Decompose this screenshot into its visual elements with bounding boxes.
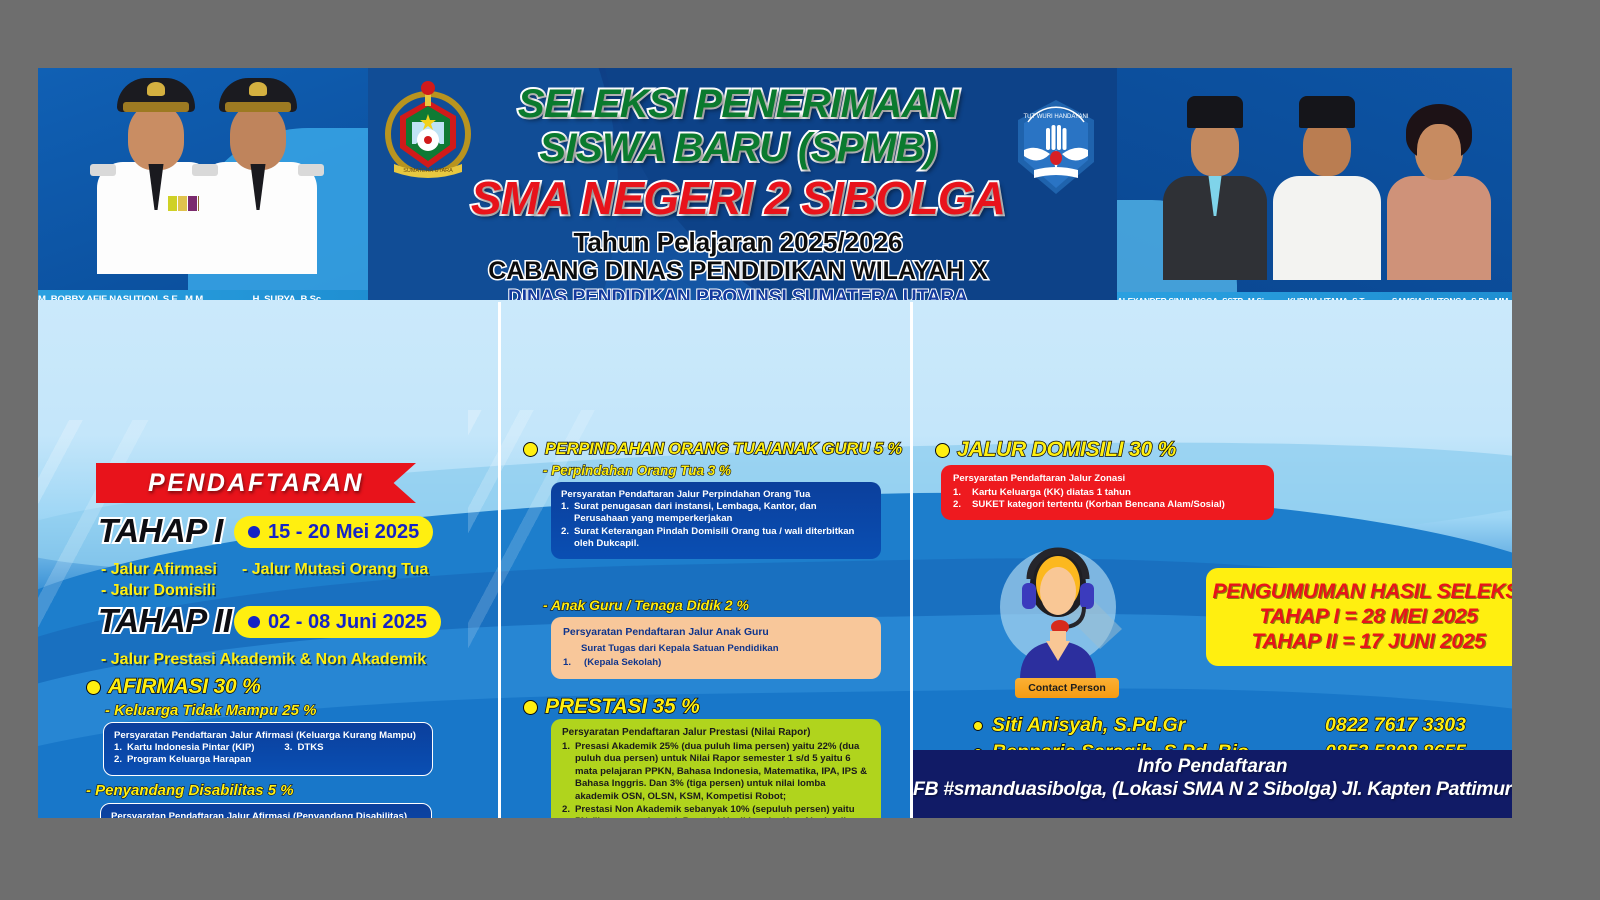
box-item: 1. Kartu Keluarga (KK) diatas 1 tahun [953,487,1262,499]
provincial-office: DINAS PENDIDIKAN PROVINSI SUMATERA UTARA [428,286,1048,300]
afirmasi-sub-keluarga: - Keluarga Tidak Mampu 25 % [105,702,316,719]
prestasi-section-head: PRESTASI 35 % [523,695,700,719]
tahap-2-date: 02 - 08 Juni 2025 [268,611,427,634]
bullet-dot-icon [523,700,538,715]
afirmasi-sub-disabilitas: - Penyandang Disabilitas 5 % [86,782,294,799]
title-line-1: SELEKSI PENERIMAAN [428,82,1048,126]
ribbon-label: PENDAFTARAN [148,469,364,498]
official-name: H. SURYA, B.Sc [206,290,369,300]
perpindahan-requirements-box: Persyaratan Pendaftaran Jalur Perpindaha… [551,482,881,559]
anakguru-sub: - Anak Guru / Tenaga Didik 2 % [543,597,749,613]
bullet-dot-icon [248,616,260,628]
box-item: 1. Kartu Indonesia Pintar (KIP) [114,742,254,754]
footer-title: Info Pendaftaran [913,756,1512,778]
tahap-1-label: TAHAP I [98,512,223,550]
bullet-dot-icon [973,721,983,731]
education-officials-portraits: ALEXANDER SINULINGGA, SSTP., M.Si KURNIA… [1117,68,1512,300]
contact-row: Siti Anisyah, S.Pd.Gr 0822 7617 3303 [973,712,1493,739]
afirmasi-requirements-box-2: Persyaratan Pendaftaran Jalur Afirmasi (… [100,803,432,818]
contact-person-badge: Contact Person [1015,678,1119,698]
anakguru-requirements-box: Persyaratan Pendaftaran Jalur Anak Guru … [551,617,881,679]
announcement-title: PENGUMUMAN HASIL SELEKSI [1212,580,1512,604]
box-item: 2. Prestasi Non Akademik sebanyak 10% (s… [562,804,870,818]
box-title: Persyaratan Pendaftaran Jalur Anak Guru [563,627,869,638]
bullet-dot-icon [86,680,101,695]
announcement-box: PENGUMUMAN HASIL SELEKSI TAHAP I = 28 ME… [1206,568,1512,666]
domisili-section-head: JALUR DOMISILI 30 % [935,438,1176,462]
domisili-heading: JALUR DOMISILI 30 % [957,438,1176,462]
poster-header: M. BOBBY AFIF NASUTION, S.E., M.M. H. SU… [38,68,1512,300]
contact-person-illustration [988,545,1148,680]
domisili-requirements-box: Persyaratan Pendaftaran Jalur Zonasi 1. … [941,465,1274,520]
box-item: 1. Surat penugasan dari instansi, Lembag… [561,501,871,526]
title-line-2: SISWA BARU (SPMB) [428,126,1048,170]
bullet-dot-icon [523,442,538,457]
official-name: KURNIA UTAMA, S.T [1264,292,1388,300]
box-item: 2. Program Keluarga Harapan [114,754,422,766]
portrait-kacabdisdik [1267,118,1387,288]
box-item: 1. Presasi Akademik 25% (dua puluh lima … [562,741,870,803]
tahap-1-item-domisili: - Jalur Domisili [101,582,216,600]
poster-footer: Info Pendaftaran FB #smanduasibolga, (Lo… [913,750,1512,818]
tahap-2-item-prestasi: - Jalur Prestasi Akademik & Non Akademik [101,651,426,669]
perpindahan-heading: PERPINDAHAN ORANG TUA/ANAK GURU 5 % [545,440,902,459]
registration-column: PENDAFTARAN TAHAP I 15 - 20 Mei 2025 - J… [38,300,498,818]
box-title: Persyaratan Pendaftaran Jalur Perpindaha… [561,489,871,500]
box-title: Persyaratan Pendaftaran Jalur Prestasi (… [562,727,870,738]
bullet-dot-icon [248,526,260,538]
perpindahan-section-head: PERPINDAHAN ORANG TUA/ANAK GURU 5 % [523,440,902,459]
official-name: ALEXANDER SINULINGGA, SSTP., M.Si [1117,292,1264,300]
portrait-vice-governor [188,104,328,294]
afirmasi-requirements-box-1: Persyaratan Pendaftaran Jalur Afirmasi (… [103,722,433,776]
official-name: SAMSIA SILITONGA, S.Pd., MM [1388,292,1512,300]
box-title: Persyaratan Pendaftaran Jalur Afirmasi (… [114,730,422,741]
contact-phone[interactable]: 0822 7617 3303 [1325,714,1466,737]
governor-nameplate: M. BOBBY AFIF NASUTION, S.E., M.M. H. SU… [38,290,368,300]
official-name: M. BOBBY AFIF NASUTION, S.E., M.M. [38,290,206,300]
perpindahan-sub: - Perpindahan Orang Tua 3 % [543,463,731,478]
footer-info: FB #smanduasibolga, (Lokasi SMA N 2 Sibo… [913,778,1512,801]
afirmasi-heading: AFIRMASI 30 % [108,675,261,699]
portrait-kepala-sekolah [1379,118,1499,288]
announcement-tahap-1: TAHAP I = 28 MEI 2025 [1259,605,1477,629]
contact-name: Siti Anisyah, S.Pd.Gr [992,714,1325,737]
box-title: Persyaratan Pendaftaran Jalur Zonasi [953,473,1262,484]
box-line: Persyaratan Pendaftaran Jalur Afirmasi (… [111,811,421,818]
box-line: Surat Tugas dari Kepala Satuan Pendidika… [581,643,869,656]
tahap-2-date-pill: 02 - 08 Juni 2025 [234,606,441,638]
poster-title-block: SELEKSI PENERIMAAN SISWA BARU (SPMB) SMA… [428,82,1048,300]
branch-office: CABANG DINAS PENDIDIKAN WILAYAH X [428,257,1048,286]
prestasi-requirements-box: Persyaratan Pendaftaran Jalur Prestasi (… [551,719,881,818]
afirmasi-section-head: AFIRMASI 30 % [86,675,261,699]
bullet-dot-icon [935,443,950,458]
pendaftaran-ribbon: PENDAFTARAN [96,463,416,503]
tahap-1-item-afirmasi: - Jalur Afirmasi [101,561,217,579]
spmb-poster: M. BOBBY AFIF NASUTION, S.E., M.M. H. SU… [38,68,1512,818]
tahap-1-date-pill: 15 - 20 Mei 2025 [234,516,433,548]
tahap-1-item-mutasi: - Jalur Mutasi Orang Tua [242,561,428,579]
box-item: 2. SUKET kategori tertentu (Korban Benca… [953,499,1262,511]
domicile-contact-column: JALUR DOMISILI 30 % Persyaratan Pendafta… [913,300,1512,818]
portrait-kadisdik [1155,118,1275,288]
tahap-2-label: TAHAP II [98,602,232,640]
contact-person-label: Contact Person [1028,682,1106,694]
box-item: 1. (Kepala Sekolah) [563,657,869,669]
academic-year: Tahun Pelajaran 2025/2026 [428,227,1048,257]
transfer-achievement-column: PERPINDAHAN ORANG TUA/ANAK GURU 5 % - Pe… [501,300,910,818]
box-item: 3. DTKS [284,742,323,754]
school-name-title: SMA NEGERI 2 SIBOLGA [428,172,1048,224]
prestasi-heading: PRESTASI 35 % [545,695,700,719]
box-item: 2. Surat Keterangan Pindah Domisili Oran… [561,526,871,551]
tahap-1-date: 15 - 20 Mei 2025 [268,521,419,544]
announcement-tahap-2: TAHAP II = 17 JUNI 2025 [1251,630,1485,654]
education-officials-nameplate: ALEXANDER SINULINGGA, SSTP., M.Si KURNIA… [1117,292,1512,300]
governor-portraits: M. BOBBY AFIF NASUTION, S.E., M.M. H. SU… [38,68,368,300]
